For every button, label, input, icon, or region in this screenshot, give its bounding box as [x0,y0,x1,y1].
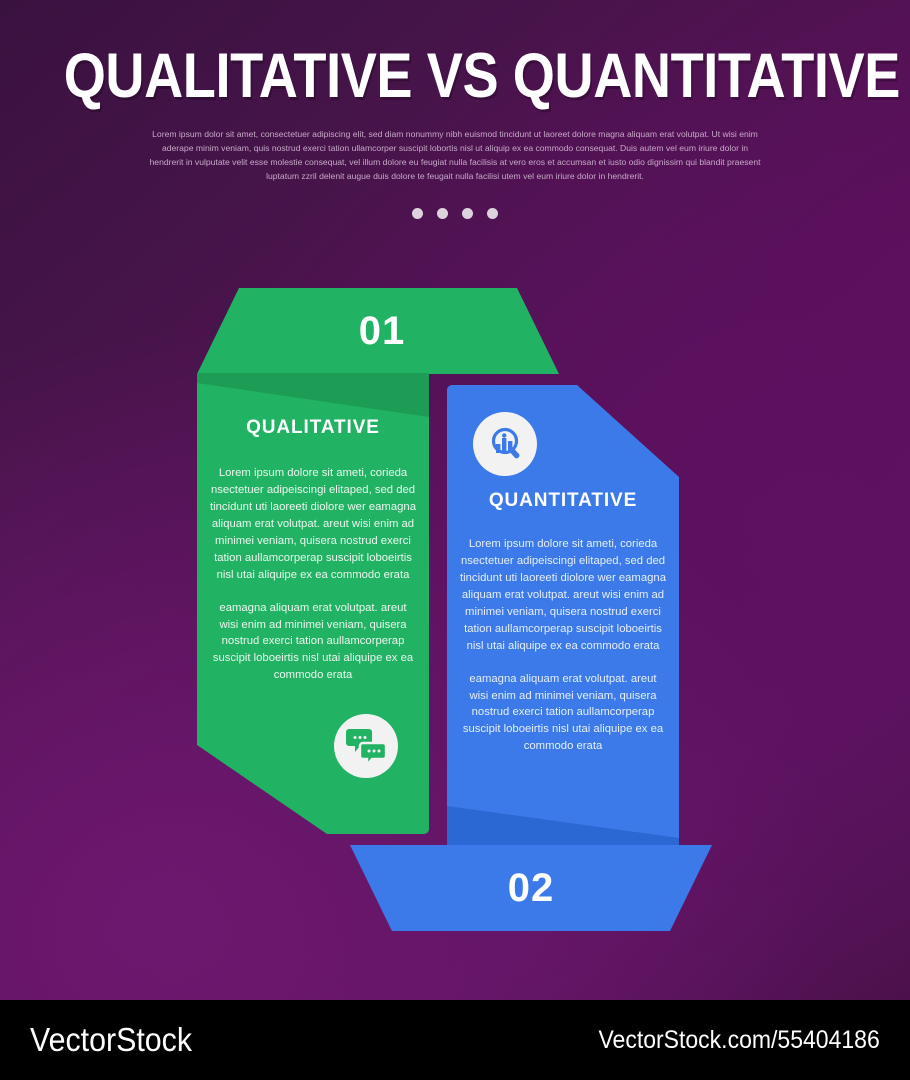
watermark-footer: VectorStock VectorStock.com/55404186 [0,1000,910,1080]
chat-bubbles-icon [334,714,398,778]
header: QUALITATIVE VS QUANTITATIVE DATA Lorem i… [0,0,910,219]
panel-02-number: 02 [350,845,712,931]
panel-01-number: 01 [197,288,559,374]
dot-3 [462,208,473,219]
panel-01-content: QUALITATIVE Lorem ipsum dolore sit ameti… [197,373,429,834]
panel-01-number-banner[interactable]: 01 [197,288,559,374]
vectorstock-url: VectorStock.com/55404186 [599,1026,880,1055]
dot-1 [412,208,423,219]
panel-02-paragraph-1: Lorem ipsum dolore sit ameti, corieda ns… [459,536,667,655]
panel-02-content: QUANTITATIVE Lorem ipsum dolore sit amet… [447,385,679,846]
page-title: QUALITATIVE VS QUANTITATIVE DATA [64,44,847,108]
chart-magnifier-icon [473,412,537,476]
infographic-poster: QUALITATIVE VS QUANTITATIVE DATA Lorem i… [0,0,910,1080]
dot-4 [487,208,498,219]
panel-01-paragraph-1: Lorem ipsum dolore sit ameti, corieda ns… [209,465,417,584]
dot-2 [437,208,448,219]
dot-separator [0,208,910,219]
panel-02-heading: QUANTITATIVE [459,490,667,512]
subtitle-text: Lorem ipsum dolor sit amet, consectetuer… [146,128,764,184]
panel-01-paragraph-2: eamagna aliquam erat volutpat. areut wis… [209,600,417,685]
panel-01-heading: QUALITATIVE [209,417,417,439]
vectorstock-logo: VectorStock [30,1021,192,1059]
panel-02-number-banner[interactable]: 02 [350,845,712,931]
panel-02-paragraph-2: eamagna aliquam erat volutpat. areut wis… [459,671,667,756]
